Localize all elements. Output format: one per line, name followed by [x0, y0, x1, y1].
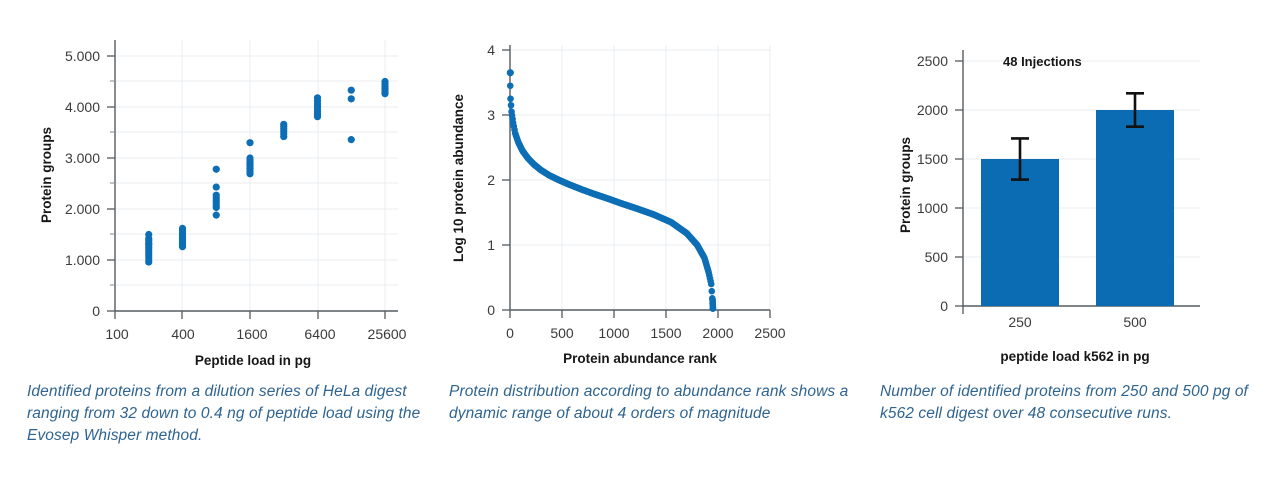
figure-panel-row: 5.000 4.000 3.000 2.000 1.000 0 100 400 … — [0, 0, 1280, 490]
x-tick-label: 1500 — [650, 325, 681, 341]
y-tick-label: 0 — [487, 302, 495, 318]
y-tick-label: 2.000 — [65, 201, 100, 217]
x-axis-title: peptide load k562 in pg — [1000, 349, 1149, 364]
y-tick-label: 4 — [487, 42, 495, 58]
injections-annotation: 48 Injections — [1003, 54, 1082, 69]
y-tick-label: 5.000 — [65, 48, 100, 64]
bar — [981, 159, 1059, 306]
scatter-point — [213, 204, 220, 211]
bar-series — [981, 93, 1174, 306]
x-axis-ticks — [510, 310, 770, 318]
x-tick-label: 100 — [105, 326, 129, 342]
scatter-point — [145, 258, 152, 265]
x-tick-label: 1600 — [236, 326, 267, 342]
curve-point — [710, 305, 717, 312]
panel-caption: Protein distribution according to abunda… — [449, 381, 864, 425]
curve-point — [507, 95, 514, 102]
scatter-chart: 5.000 4.000 3.000 2.000 1.000 0 100 400 … — [0, 0, 440, 375]
y-tick-label: 1000 — [917, 200, 948, 216]
y-tick-label: 0 — [940, 298, 948, 314]
panel-dilution-series: 5.000 4.000 3.000 2.000 1.000 0 100 400 … — [0, 0, 440, 490]
y-tick-label: 3.000 — [65, 150, 100, 166]
scatter-point — [314, 113, 321, 120]
x-axis-ticks — [115, 311, 385, 319]
curve-point — [708, 288, 715, 295]
abundance-curve-points — [507, 69, 717, 312]
gridlines — [115, 40, 398, 311]
scatter-point — [348, 136, 355, 143]
scatter-point — [246, 139, 253, 146]
scatter-point — [213, 212, 220, 219]
y-tick-label: 2000 — [917, 102, 948, 118]
curve-point — [708, 281, 715, 288]
bar — [1096, 110, 1174, 306]
x-tick-label: 0 — [506, 325, 514, 341]
scatter-point — [213, 166, 220, 173]
x-tick-label: 25600 — [368, 326, 407, 342]
x-tick-label: 250 — [1008, 314, 1032, 330]
x-tick-label: 2500 — [754, 325, 785, 341]
curve-point — [508, 102, 515, 109]
scatter-point — [348, 95, 355, 102]
panel-caption: Identified proteins from a dilution seri… — [27, 381, 427, 447]
y-axis-ticks — [107, 56, 115, 311]
y-tick-label: 1500 — [917, 151, 948, 167]
curve-point — [507, 82, 514, 89]
x-tick-label: 6400 — [304, 326, 335, 342]
y-tick-label: 3 — [487, 107, 495, 123]
y-tick-label: 500 — [925, 249, 949, 265]
x-tick-label: 2000 — [702, 325, 733, 341]
panel-k562-bars: 2500 2000 1500 1000 500 0 48 Injections … — [870, 0, 1280, 490]
scatter-point — [280, 133, 287, 140]
scatter-point — [348, 87, 355, 94]
y-tick-label: 1.000 — [65, 252, 100, 268]
scatter-point — [179, 243, 186, 250]
panel-caption: Number of identified proteins from 250 a… — [880, 381, 1280, 425]
curve-point — [507, 69, 514, 76]
y-axis-title: Log 10 protein abundance — [451, 94, 466, 263]
y-tick-label: 2500 — [917, 53, 948, 69]
y-tick-label: 0 — [92, 303, 100, 319]
y-axis-title: Protein groups — [39, 127, 54, 223]
y-tick-label: 1 — [487, 237, 495, 253]
x-tick-label: 400 — [171, 326, 195, 342]
y-tick-label: 2 — [487, 172, 495, 188]
x-tick-label: 500 — [1123, 314, 1147, 330]
x-axis-title: Protein abundance rank — [563, 351, 717, 366]
bar-chart: 2500 2000 1500 1000 500 0 48 Injections … — [870, 0, 1280, 375]
abundance-curve-chart: 4 3 2 1 0 0 500 1000 1500 2000 2500 Prot… — [440, 0, 870, 375]
y-axis-ticks — [955, 61, 963, 306]
panel-abundance-rank: 4 3 2 1 0 0 500 1000 1500 2000 2500 Prot… — [440, 0, 870, 490]
scatter-point — [246, 170, 253, 177]
x-tick-label: 500 — [550, 325, 574, 341]
y-axis-title: Protein groups — [898, 137, 913, 233]
scatter-point — [213, 183, 220, 190]
x-tick-label: 1000 — [598, 325, 629, 341]
x-axis-title: Peptide load in pg — [195, 353, 311, 368]
y-tick-label: 4.000 — [65, 99, 100, 115]
y-axis-ticks — [502, 50, 510, 310]
scatter-point — [381, 90, 388, 97]
